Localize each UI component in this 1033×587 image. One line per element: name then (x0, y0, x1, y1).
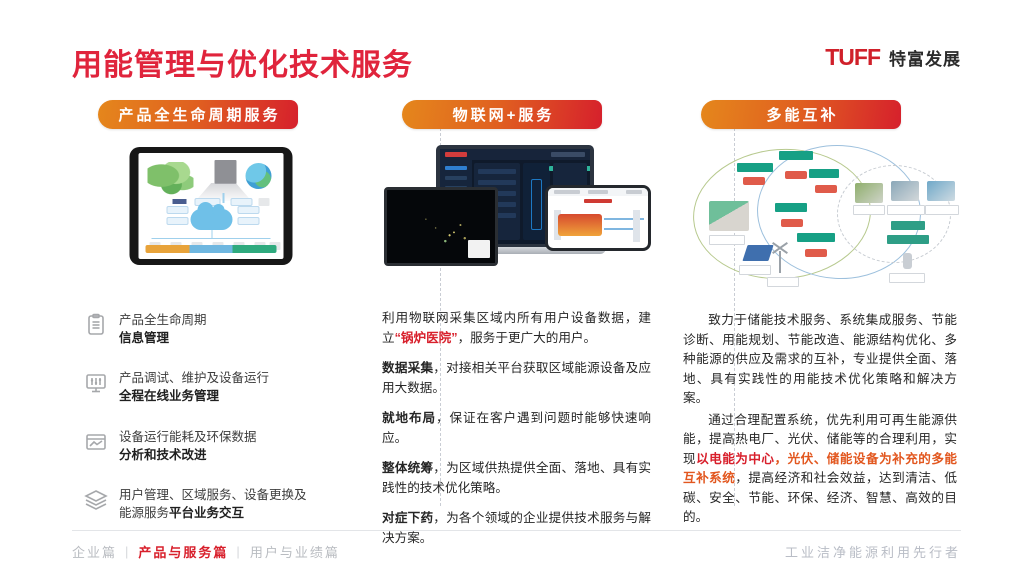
feature-line-1: 产品调试、维护及设备运行 (119, 371, 269, 385)
highlight-electricity-center: 以电能为中心 (696, 452, 774, 466)
demand-tag-1 (891, 221, 925, 230)
paragraph: 就地布局，保证在客户遇到问题时能够快速响应。 (382, 409, 651, 448)
footer-nav: 企业篇 | 产品与服务篇 | 用户与业绩篇 (72, 542, 340, 561)
clipboard-icon (84, 313, 108, 337)
device-group (380, 141, 653, 289)
commercial-label (887, 205, 925, 215)
antenna-icon (223, 193, 225, 203)
cloud-tag-4 (238, 217, 260, 225)
footer-divider (72, 530, 961, 531)
energy-network-graphic (679, 141, 961, 289)
node-tag-power-grid (737, 163, 773, 172)
feature-line-1: 用户管理、区域服务、设备更换及 (119, 488, 307, 502)
highlight-boiler-hospital: “锅炉医院” (395, 331, 458, 345)
category-bar-row (146, 245, 277, 253)
brand-name-label: 特富发展 (889, 45, 961, 70)
devices-laptop-tablet-phone-dashboard (380, 141, 653, 289)
term-targeted-remedy: 对症下药 (382, 511, 433, 525)
feature-line-2: 全程在线业务管理 (119, 389, 219, 403)
globe-icon (246, 163, 272, 189)
node-tag-storage (775, 203, 807, 212)
feature-text: 产品全生命周期 信息管理 (119, 311, 207, 347)
multi-energy-body-text: 致力于储能技术服务、系统集成服务、节能诊断、用能规划、节能改造、能源结构优化、多… (679, 311, 961, 528)
pipe-line-2 (604, 228, 636, 230)
column-lifecycle-service: 产品全生命周期服务 (72, 100, 368, 510)
feature-item-platform-interaction: 用户管理、区域服务、设备更换及 能源服务平台业务交互 (84, 486, 350, 522)
network-label (231, 198, 253, 206)
residential-label (925, 205, 959, 215)
brand-logo: TUFF 特富发展 (825, 45, 961, 70)
paragraph: 利用物联网采集区域内所有用户设备数据，建立“锅炉医院”，服务于更广大的用户。 (382, 309, 651, 348)
footer-separator: | (125, 544, 130, 559)
column-multi-energy: 多能互补 (665, 100, 961, 510)
paragraph: 整体统筹，为区域供热提供全面、落地、具有实践性的技术优化策略。 (382, 459, 651, 498)
monitor-settings-icon (84, 371, 108, 395)
column-header-iot: 物联网+服务 (402, 100, 602, 129)
china-map-icon (148, 162, 194, 196)
connector-stem (211, 230, 212, 239)
paragraph: 对症下药，为各个领域的企业提供技术服务与解决方案。 (382, 509, 651, 548)
footer-nav-item-customers[interactable]: 用户与业绩篇 (250, 542, 340, 561)
iot-body-text: 利用物联网采集区域内所有用户设备数据，建立“锅炉医院”，服务于更广大的用户。 数… (380, 309, 653, 548)
wind-turbine-icon (779, 251, 781, 273)
cloud-service-icon (190, 209, 232, 230)
node-badge-1 (743, 177, 765, 185)
column-header-lifecycle: 产品全生命周期服务 (98, 100, 298, 129)
storage-tank-icon (903, 253, 912, 269)
solar-label (739, 265, 771, 275)
node-tag-cooling (797, 233, 835, 242)
industrial-park-icon (855, 183, 883, 203)
feature-text: 用户管理、区域服务、设备更换及 能源服务平台业务交互 (119, 486, 307, 522)
flow-diagram (531, 179, 542, 230)
feature-line-2-prefix: 能源服务 (119, 506, 169, 520)
feature-text: 设备运行能耗及环保数据 分析和技术改进 (119, 428, 257, 464)
map-legend-badge (468, 240, 490, 258)
industrial-label (853, 205, 885, 215)
feature-line-2: 信息管理 (119, 331, 169, 345)
footer-separator: | (236, 544, 241, 559)
layers-icon (84, 488, 108, 512)
node-badge-3 (815, 185, 837, 193)
paragraph: 通过合理配置系统，优先利用可再生能源供能，提高热电厂、光伏、储能等的合理利用，实… (683, 411, 957, 528)
term-data-collection: 数据采集 (382, 361, 433, 375)
feature-text: 产品调试、维护及设备运行 全程在线业务管理 (119, 369, 269, 405)
multi-energy-network-diagram (679, 141, 961, 289)
dashboard-topbar (440, 149, 590, 160)
boiler-column-right (633, 210, 640, 242)
feature-line-2: 平台业务交互 (169, 506, 244, 520)
footer-tagline: 工业洁净能源利用先行者 (785, 542, 961, 561)
feature-item-online-management: 产品调试、维护及设备运行 全程在线业务管理 (84, 369, 350, 405)
commercial-district-icon (891, 181, 919, 201)
node-tag-power-plant (779, 151, 813, 160)
node-tag-gas (809, 169, 839, 178)
term-local-layout: 就地布局 (382, 411, 436, 425)
node-badge-4 (781, 219, 803, 227)
device-node-icon (259, 198, 270, 206)
cloud-tag-2 (167, 217, 189, 225)
demand-tag-2 (887, 235, 929, 244)
dashboard-user-area (551, 152, 585, 157)
tablet-device-frame-night (384, 187, 498, 266)
cloud-tag-1 (167, 206, 189, 214)
boiler-graphic (558, 214, 602, 236)
server-box-icon (215, 160, 237, 184)
feature-line-1: 产品全生命周期 (119, 313, 207, 327)
phone-device-frame (545, 185, 651, 251)
chart-window-icon (84, 430, 108, 454)
wind-label (767, 277, 799, 287)
solar-panel-icon (742, 245, 773, 261)
footer-nav-item-company[interactable]: 企业篇 (72, 542, 117, 561)
tablet-cloud-service-diagram (72, 141, 350, 289)
brand-mark-text: TUFF (825, 48, 880, 67)
feature-item-analysis-improvement: 设备运行能耗及环保数据 分析和技术改进 (84, 428, 350, 464)
paragraph: 致力于储能技术服务、系统集成服务、节能诊断、用能规划、节能改造、能源结构优化、多… (683, 311, 957, 409)
column-header-multi-energy: 多能互补 (701, 100, 901, 129)
highlight-comma: ， (775, 452, 788, 466)
residential-area-icon (927, 181, 955, 201)
node-badge-5 (805, 249, 827, 257)
phone-statusbar (548, 188, 648, 196)
factory-icon (173, 199, 187, 204)
node-badge-2 (785, 171, 807, 179)
content-columns: 产品全生命周期服务 (72, 100, 961, 510)
power-plant-icon (709, 201, 749, 231)
feature-line-2: 分析和技术改进 (119, 448, 207, 462)
tuff-wordmark-icon: TUFF (825, 48, 880, 67)
plant-label (709, 235, 745, 245)
tablet-device-frame (130, 147, 293, 265)
footer-nav-item-products[interactable]: 产品与服务篇 (138, 542, 228, 561)
storage-label (889, 273, 925, 283)
feature-line-1: 设备运行能耗及环保数据 (119, 430, 257, 444)
term-overall-planning: 整体统筹 (382, 461, 433, 475)
cloud-tag-3 (238, 206, 260, 214)
phone-header-accent (584, 199, 612, 203)
column-iot-service: 物联网+服务 (368, 100, 665, 510)
feature-list: 产品全生命周期 信息管理 (72, 311, 350, 522)
paragraph: 数据采集，对接相关平台获取区域能源设备及应用大数据。 (382, 359, 651, 398)
page-title: 用能管理与优化技术服务 (72, 40, 413, 84)
dashboard-logo (445, 152, 467, 157)
slide-root: 用能管理与优化技术服务 TUFF 特富发展 产品全生命周期服务 (0, 0, 1033, 587)
tablet-screen (139, 153, 284, 259)
feature-item-lifecycle-info: 产品全生命周期 信息管理 (84, 311, 350, 347)
